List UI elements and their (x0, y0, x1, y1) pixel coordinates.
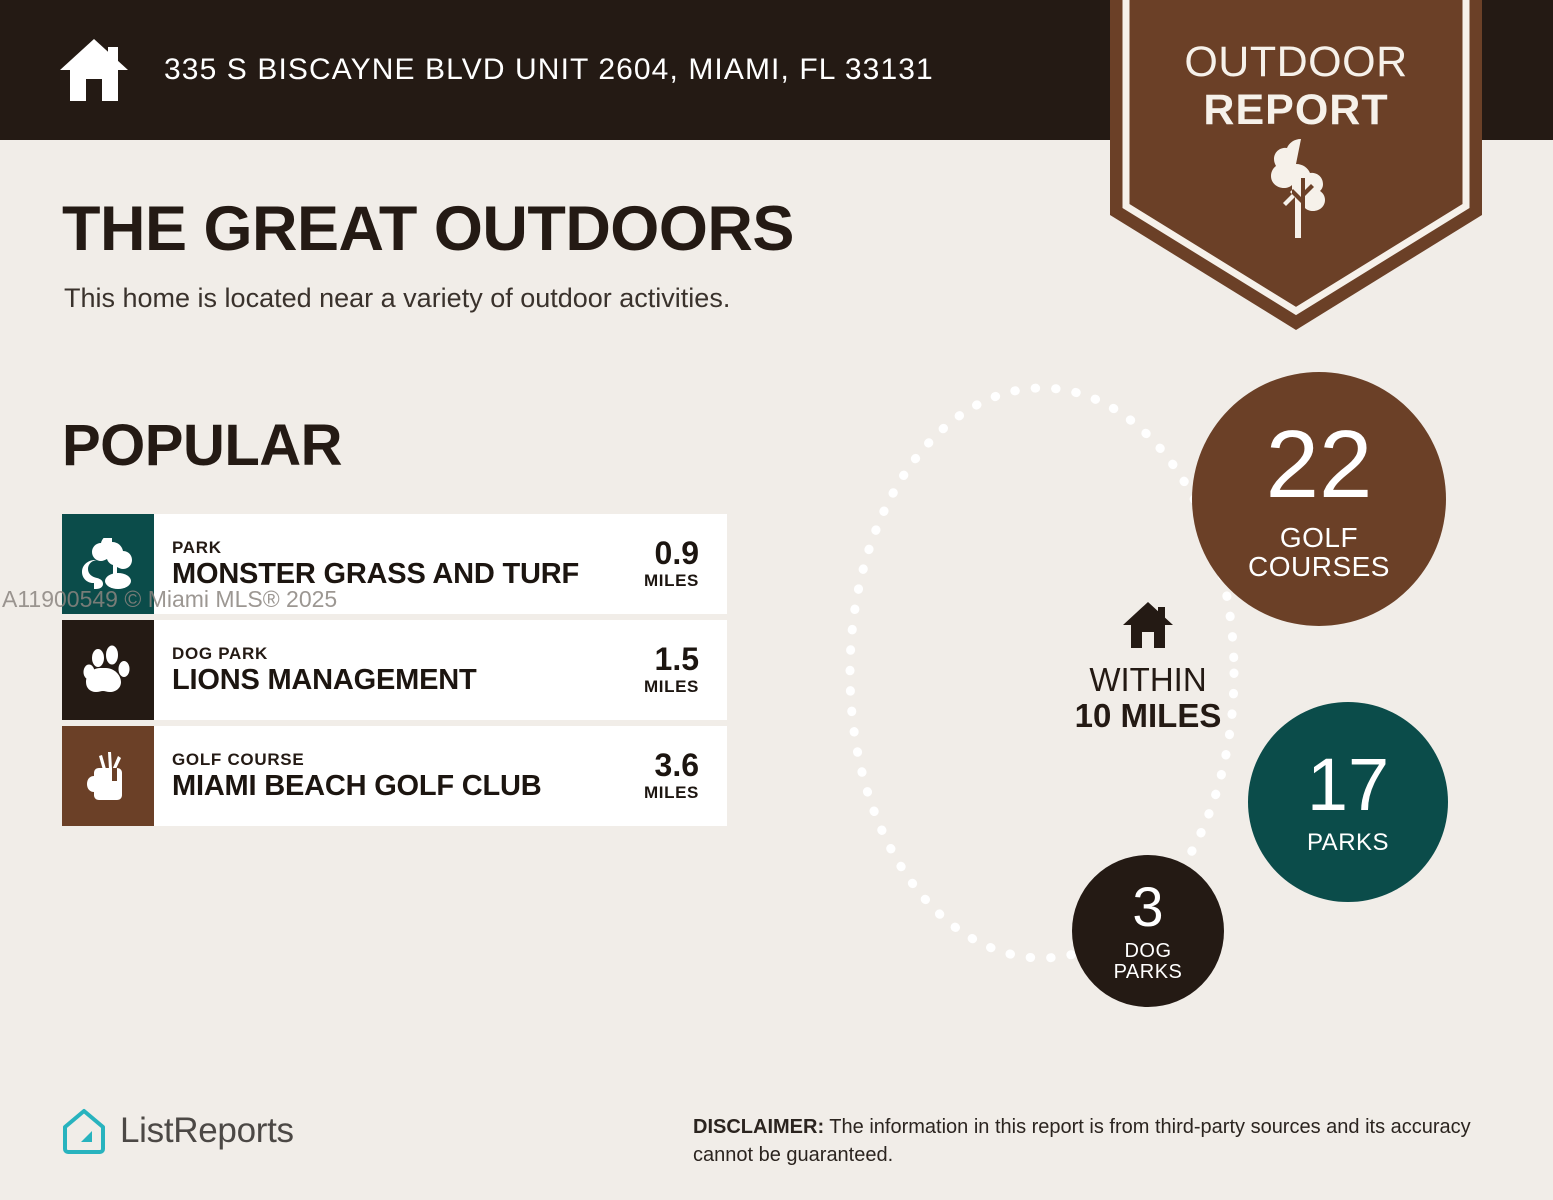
outdoor-report-badge: OUTDOOR REPORT (1110, 0, 1482, 330)
stat-count: 22 (1266, 417, 1373, 513)
section-title-popular: POPULAR (62, 412, 342, 479)
row-text: GOLF COURSE MIAMI BEACH GOLF CLUB (172, 750, 644, 803)
row-name: MIAMI BEACH GOLF CLUB (172, 770, 644, 803)
row-category: PARK (172, 538, 644, 558)
row-name: MONSTER GRASS AND TURF (172, 558, 644, 591)
listreports-house-icon (62, 1108, 106, 1154)
row-name: LIONS MANAGEMENT (172, 664, 644, 697)
row-distance-value: 3.6 (644, 749, 699, 781)
paw-print-icon (82, 644, 134, 696)
badge-title-line2: REPORT (1110, 86, 1482, 134)
list-item[interactable]: GOLF COURSE MIAMI BEACH GOLF CLUB 3.6 MI… (62, 726, 727, 826)
row-body: GOLF COURSE MIAMI BEACH GOLF CLUB 3.6 MI… (154, 726, 727, 826)
park-tree-icon (82, 538, 134, 590)
popular-list: PARK MONSTER GRASS AND TURF 0.9 MILES DO… (62, 514, 727, 832)
within-line2: 10 MILES (1048, 698, 1248, 734)
list-item[interactable]: PARK MONSTER GRASS AND TURF 0.9 MILES (62, 514, 727, 614)
infographic: WITHIN 10 MILES 22 GOLF COURSES 17 PARKS… (800, 330, 1500, 1050)
listreports-logo[interactable]: ListReports (62, 1108, 294, 1154)
row-distance-unit: MILES (644, 677, 699, 697)
property-address: 335 S BISCAYNE BLVD UNIT 2604, MIAMI, FL… (164, 53, 934, 87)
row-category: GOLF COURSE (172, 750, 644, 770)
page-title: THE GREAT OUTDOORS (62, 193, 794, 265)
stat-label-line2: PARKS (1114, 962, 1183, 983)
stat-label-line1: PARKS (1307, 830, 1389, 855)
within-radius-label: WITHIN 10 MILES (1048, 600, 1248, 734)
within-line1: WITHIN (1048, 662, 1248, 698)
badge-title-line1: OUTDOOR (1110, 38, 1482, 86)
home-icon (58, 37, 130, 103)
home-icon (1121, 600, 1175, 650)
stat-circle-golf-courses: 22 GOLF COURSES (1192, 372, 1446, 626)
listreports-logo-text: ListReports (120, 1111, 294, 1151)
row-distance-unit: MILES (644, 571, 699, 591)
row-distance: 0.9 MILES (644, 537, 721, 591)
stat-label-line2: COURSES (1248, 552, 1390, 581)
stat-circle-dog-parks: 3 DOG PARKS (1072, 855, 1224, 1007)
stat-label-line1: DOG (1114, 941, 1183, 962)
stat-count: 17 (1307, 748, 1389, 822)
disclaimer-label: DISCLAIMER: (693, 1116, 824, 1138)
row-distance: 3.6 MILES (644, 749, 721, 803)
list-item[interactable]: DOG PARK LIONS MANAGEMENT 1.5 MILES (62, 620, 727, 720)
disclaimer: DISCLAIMER: The information in this repo… (693, 1113, 1493, 1169)
row-text: DOG PARK LIONS MANAGEMENT (172, 644, 644, 697)
stat-label: DOG PARKS (1114, 941, 1183, 983)
row-body: DOG PARK LIONS MANAGEMENT 1.5 MILES (154, 620, 727, 720)
badge-title: OUTDOOR REPORT (1110, 38, 1482, 134)
row-distance-value: 1.5 (644, 643, 699, 675)
row-icon-tile (62, 514, 154, 614)
row-distance: 1.5 MILES (644, 643, 721, 697)
row-distance-value: 0.9 (644, 537, 699, 569)
stat-label-line1: GOLF (1248, 523, 1390, 552)
row-icon-tile (62, 620, 154, 720)
golf-bag-icon (82, 750, 134, 802)
row-category: DOG PARK (172, 644, 644, 664)
row-text: PARK MONSTER GRASS AND TURF (172, 538, 644, 591)
stat-label: PARKS (1307, 830, 1389, 855)
page-subtitle: This home is located near a variety of o… (64, 283, 730, 314)
stat-circle-parks: 17 PARKS (1248, 702, 1448, 902)
row-icon-tile (62, 726, 154, 826)
row-body: PARK MONSTER GRASS AND TURF 0.9 MILES (154, 514, 727, 614)
stat-label: GOLF COURSES (1248, 523, 1390, 582)
stat-count: 3 (1132, 879, 1163, 935)
row-distance-unit: MILES (644, 783, 699, 803)
